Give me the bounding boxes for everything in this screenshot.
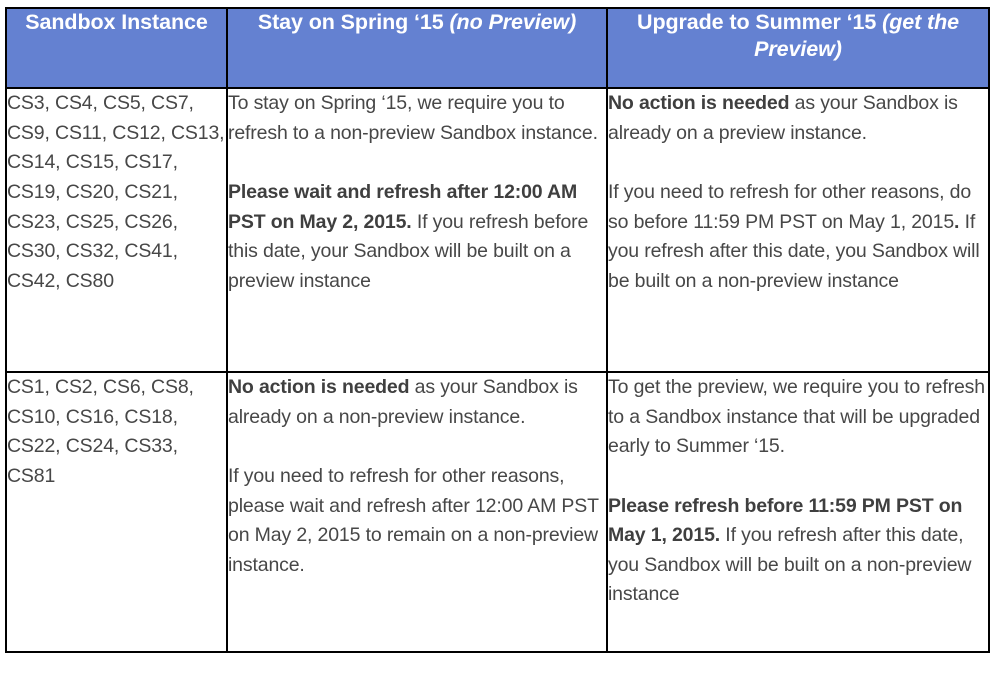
instance-list-row2: CS1, CS2, CS6, CS8, CS10, CS16, CS18, CS…: [7, 373, 226, 492]
column-header-stay-on-spring: Stay on Spring ‘15 (no Preview): [227, 8, 607, 88]
cell-instances-row2: CS1, CS2, CS6, CS8, CS10, CS16, CS18, CS…: [6, 372, 227, 652]
upgrade-summer-row1-para2-a: If you need to refresh for other reasons…: [608, 181, 971, 233]
stay-spring-row2-para2: If you need to refresh for other reasons…: [228, 462, 606, 581]
instance-list-row1: CS3, CS4, CS5, CS7, CS9, CS11, CS12, CS1…: [7, 89, 226, 296]
upgrade-summer-row1-para1: No action is needed as your Sandbox is a…: [608, 89, 988, 148]
column-header-sandbox-instance-label: Sandbox Instance: [25, 10, 207, 34]
column-header-stay-on-spring-italic: (no Preview): [450, 10, 577, 34]
sandbox-instance-comparison-table: Sandbox Instance Stay on Spring ‘15 (no …: [5, 7, 990, 653]
cell-stay-on-spring-row2: No action is needed as your Sandbox is a…: [227, 372, 607, 652]
table-header: Sandbox Instance Stay on Spring ‘15 (no …: [6, 8, 989, 88]
comparison-table-page: Sandbox Instance Stay on Spring ‘15 (no …: [0, 0, 1001, 678]
upgrade-summer-row1-para2: If you need to refresh for other reasons…: [608, 178, 988, 297]
table-body: CS3, CS4, CS5, CS7, CS9, CS11, CS12, CS1…: [6, 88, 989, 652]
stay-spring-row2-para1-bold: No action is needed: [228, 376, 409, 398]
column-header-sandbox-instance: Sandbox Instance: [6, 8, 227, 88]
column-header-stay-on-spring-label: Stay on Spring ‘15: [258, 10, 450, 34]
column-header-upgrade-to-summer-label: Upgrade to Summer ‘15: [637, 10, 882, 34]
stay-spring-row1-para1: To stay on Spring ‘15, we require you to…: [228, 89, 606, 148]
cell-upgrade-summer-row2: To get the preview, we require you to re…: [607, 372, 989, 652]
column-header-upgrade-to-summer: Upgrade to Summer ‘15 (get the Preview): [607, 8, 989, 88]
stay-spring-row2-para1: No action is needed as your Sandbox is a…: [228, 373, 606, 432]
table-header-row: Sandbox Instance Stay on Spring ‘15 (no …: [6, 8, 989, 88]
upgrade-summer-row2-para1: To get the preview, we require you to re…: [608, 373, 988, 462]
table-row: CS1, CS2, CS6, CS8, CS10, CS16, CS18, CS…: [6, 372, 989, 652]
upgrade-summer-row2-para2: Please refresh before 11:59 PM PST on Ma…: [608, 492, 988, 611]
table-row: CS3, CS4, CS5, CS7, CS9, CS11, CS12, CS1…: [6, 88, 989, 372]
cell-upgrade-summer-row1: No action is needed as your Sandbox is a…: [607, 88, 989, 372]
cell-stay-on-spring-row1: To stay on Spring ‘15, we require you to…: [227, 88, 607, 372]
upgrade-summer-row1-para1-bold: No action is needed: [608, 92, 789, 114]
cell-instances-row1: CS3, CS4, CS5, CS7, CS9, CS11, CS12, CS1…: [6, 88, 227, 372]
stay-spring-row1-para2: Please wait and refresh after 12:00 AM P…: [228, 178, 606, 297]
